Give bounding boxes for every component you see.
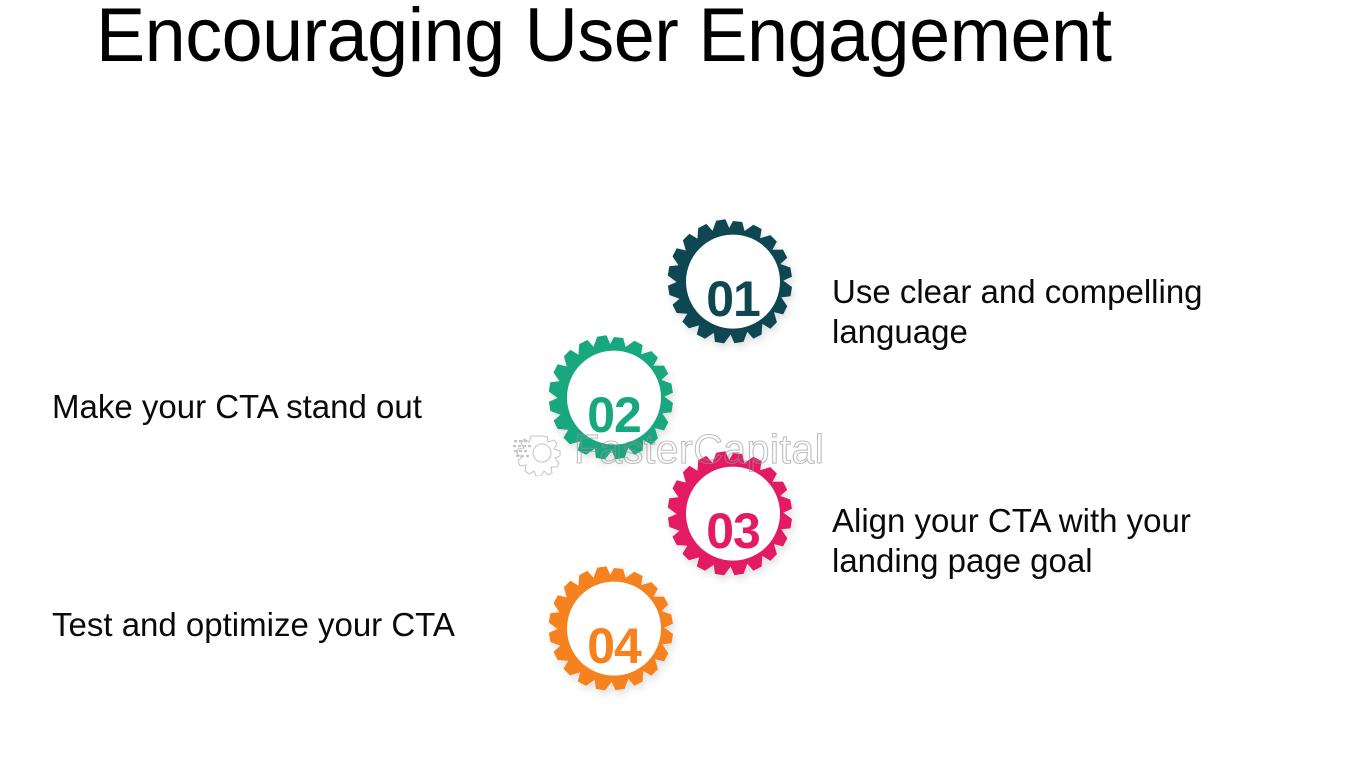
gear-01-number: 01 [647, 213, 819, 420]
step-label-03: Align your CTA with your landing page go… [832, 501, 1282, 582]
step-label-04: Test and optimize your CTA [52, 605, 482, 645]
page-title: Encouraging User Engagement [96, 0, 1112, 74]
slide-canvas: Encouraging User Engagement 01 02 03 04 [0, 0, 1350, 759]
step-label-01: Use clear and compelling language [832, 272, 1292, 353]
step-label-02: Make your CTA stand out [52, 387, 522, 427]
gear-step-01[interactable]: 01 [647, 213, 819, 385]
